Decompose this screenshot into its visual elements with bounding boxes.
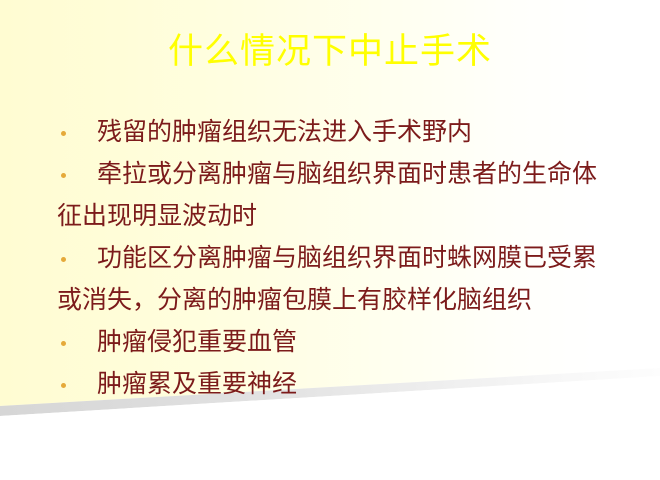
bullet-item-3: 功能区分离肿瘤与脑组织界面时蛛网膜已受累	[40, 238, 630, 280]
bullet-item-2-continuation: 征出现明显波动时	[40, 196, 630, 238]
bullet-item-3-continuation: 或消失，分离的肿瘤包膜上有胶样化脑组织	[40, 280, 630, 322]
bullet-item-3-continuation-label: 或消失，分离的肿瘤包膜上有胶样化脑组织	[40, 280, 532, 322]
bullet-item-2-label: 牵拉或分离肿瘤与脑组织界面时患者的生命体	[40, 154, 597, 196]
bullet-item-1-label: 残留的肿瘤组织无法进入手术野内	[40, 112, 472, 154]
bullet-dot-icon	[61, 257, 66, 262]
bullet-item-2: 牵拉或分离肿瘤与脑组织界面时患者的生命体	[40, 154, 630, 196]
bullet-item-4: 肿瘤侵犯重要血管	[40, 322, 630, 364]
bullet-list: 残留的肿瘤组织无法进入手术野内 牵拉或分离肿瘤与脑组织界面时患者的生命体 征出现…	[40, 112, 630, 406]
slide: 什么情况下中止手术 残留的肿瘤组织无法进入手术野内 牵拉或分离肿瘤与脑组织界面时…	[0, 0, 660, 480]
slide-title: 什么情况下中止手术	[0, 30, 660, 74]
bullet-item-3-label: 功能区分离肿瘤与脑组织界面时蛛网膜已受累	[40, 238, 597, 280]
bullet-dot-icon	[61, 131, 66, 136]
bullet-item-2-continuation-label: 征出现明显波动时	[40, 196, 257, 238]
bullet-item-5-label: 肿瘤累及重要神经	[40, 364, 297, 406]
bullet-dot-icon	[61, 341, 66, 346]
bullet-dot-icon	[61, 383, 66, 388]
bullet-item-5: 肿瘤累及重要神经	[40, 364, 630, 406]
bullet-item-1: 残留的肿瘤组织无法进入手术野内	[40, 112, 630, 154]
bullet-dot-icon	[61, 173, 66, 178]
bullet-item-4-label: 肿瘤侵犯重要血管	[40, 322, 297, 364]
